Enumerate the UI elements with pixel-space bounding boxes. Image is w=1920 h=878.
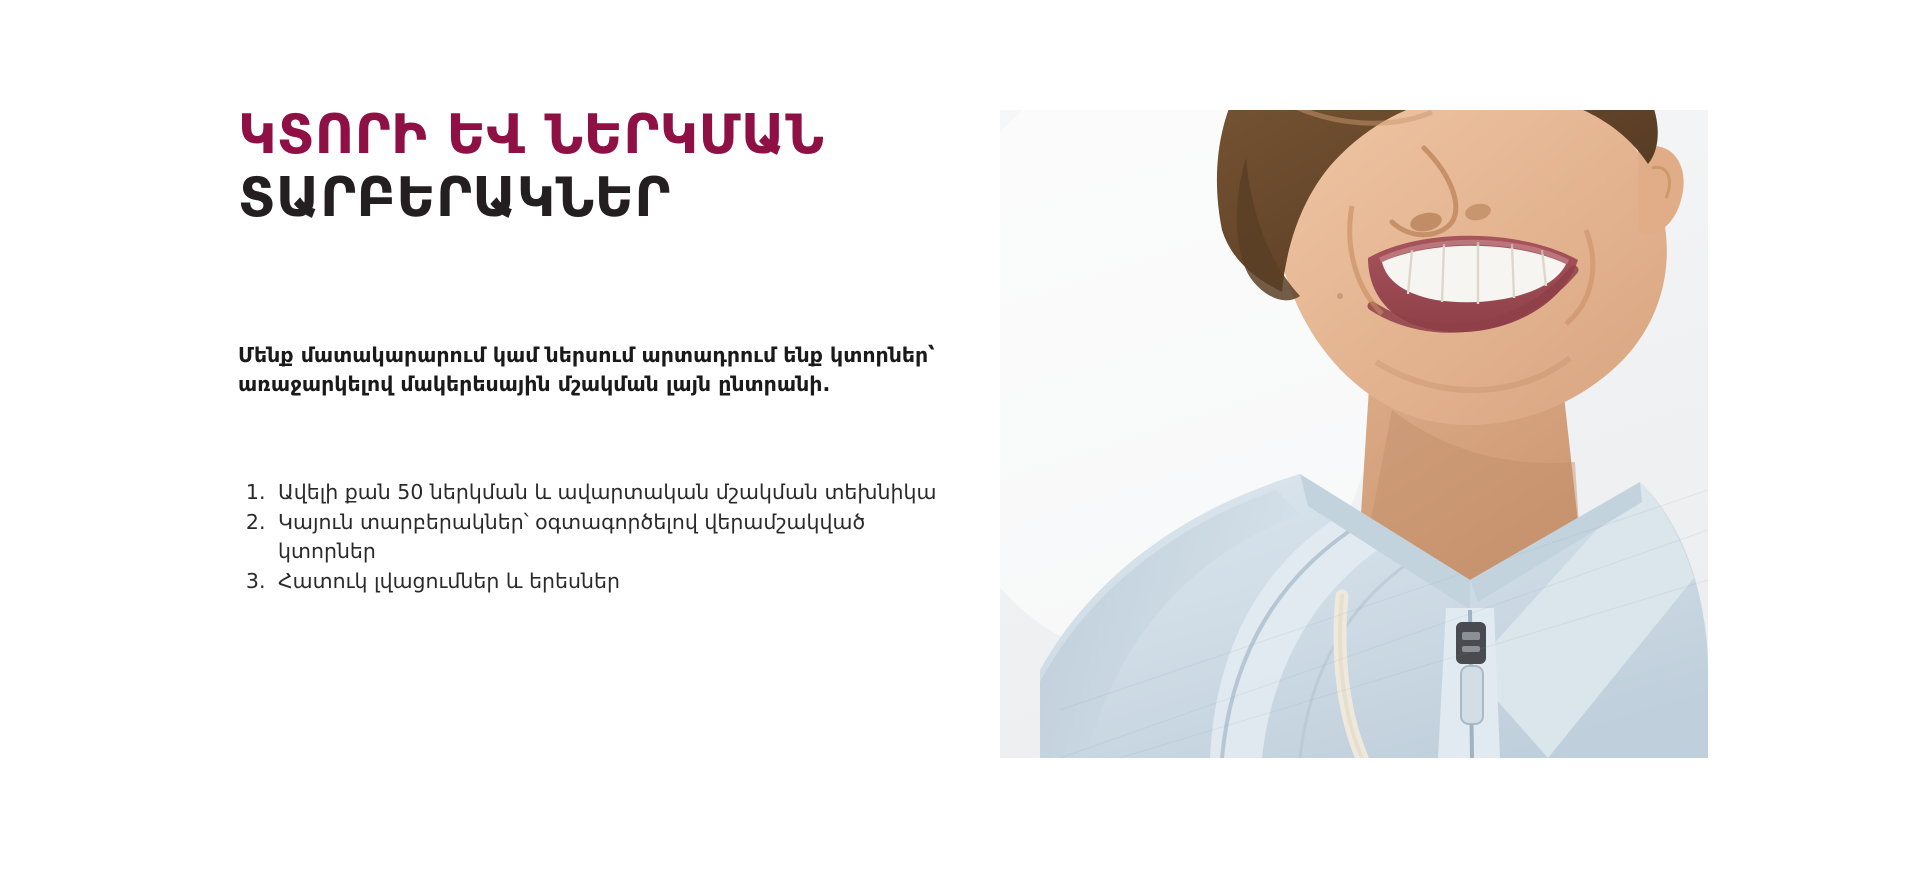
page-title: ԿՏՈՐԻ ԵՎ ՆԵՐԿՄԱՆ ՏԱՐԲԵՐԱԿՆԵՐ [238,104,968,229]
hero-photo-illustration [1000,110,1708,758]
page-title-line-1: ԿՏՈՐԻ ԵՎ ՆԵՐԿՄԱՆ [238,104,968,167]
text-column: ԿՏՈՐԻ ԵՎ ՆԵՐԿՄԱՆ ՏԱՐԲԵՐԱԿՆԵՐ Մենք մատակա… [238,104,968,229]
slide-root: ԿՏՈՐԻ ԵՎ ՆԵՐԿՄԱՆ ՏԱՐԲԵՐԱԿՆԵՐ Մենք մատակա… [0,0,1920,878]
intro-paragraph: Մենք մատակարարում կամ ներսում արտադրում … [238,341,938,399]
page-title-line-2: ՏԱՐԲԵՐԱԿՆԵՐ [238,167,968,230]
list-item: Ավելի քան 50 ներկման և ավարտական մշակման… [272,478,962,507]
feature-list: Ավելի քան 50 ներկման և ավարտական մշակման… [238,478,962,597]
list-item: Հատուկ լվացումներ և երեսներ [272,567,962,596]
hero-photo [1000,110,1708,758]
list-item: Կայուն տարբերակներ՝ օգտագործելով վերամշա… [272,508,962,566]
